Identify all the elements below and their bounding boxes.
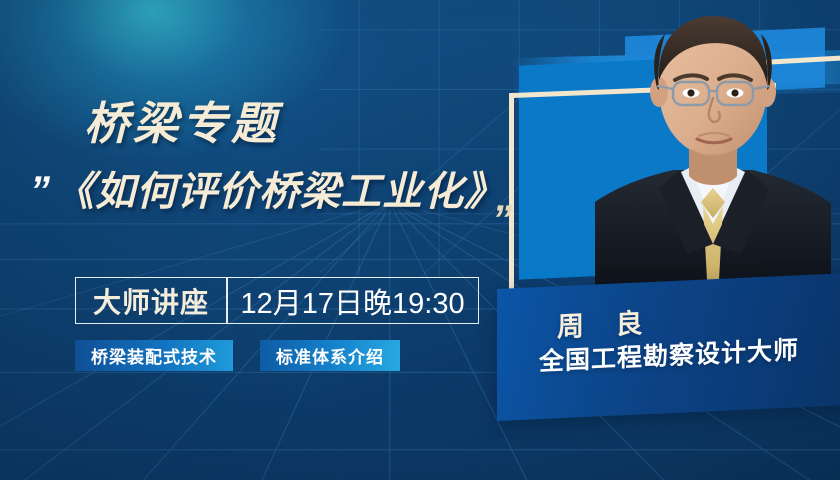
page-title: 桥梁专题 (84, 101, 280, 146)
lecture-label: 大师讲座 (76, 278, 226, 323)
quote-close-icon: ” (492, 205, 510, 235)
topic-tag-2: 标准体系介绍 (260, 340, 400, 371)
page-subtitle: 《如何评价桥梁工业化》 (54, 172, 505, 212)
lecture-poster: 周 良 全国工程勘察设计大师 桥梁专题 ” 《如何评价桥梁工业化》 ” 大师讲座… (0, 0, 840, 480)
topic-tags: 桥梁装配式技术 标准体系介绍 (75, 340, 400, 371)
quote-open-icon: ” (30, 176, 48, 206)
lecture-info-box: 大师讲座 12月17日晚19:30 (75, 277, 479, 324)
subtitle-row: ” 《如何评价桥梁工业化》 (30, 172, 505, 212)
topic-tag-1: 桥梁装配式技术 (75, 340, 233, 371)
speaker-nameplate-text: 周 良 全国工程勘察设计大师 (497, 273, 840, 421)
speaker-portrait-block (497, 0, 840, 296)
speaker-photo (595, 0, 831, 290)
speaker-name: 周 良 (557, 301, 840, 341)
lecture-datetime: 12月17日晚19:30 (228, 278, 478, 323)
